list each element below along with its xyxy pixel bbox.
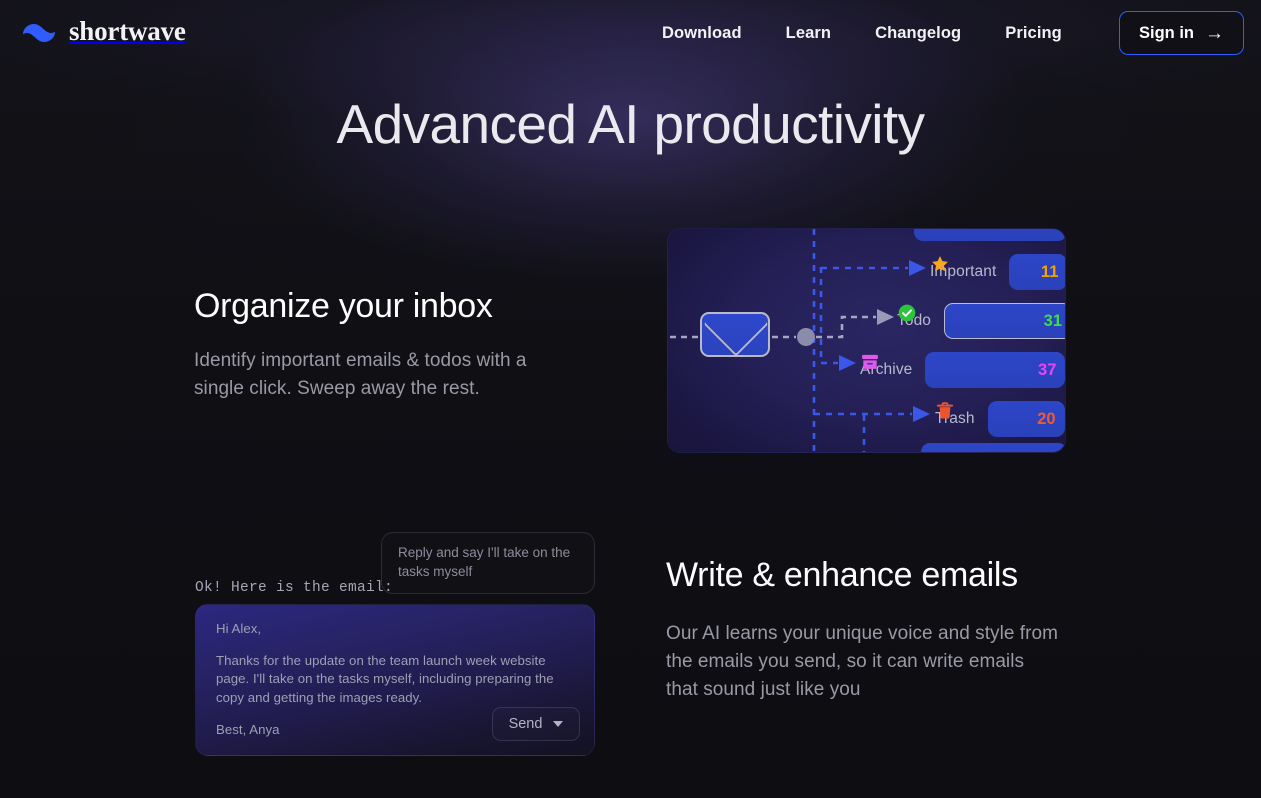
star-icon [930, 254, 950, 274]
section-organize-inbox: Organize your inbox Identify important e… [194, 285, 594, 403]
badge-count: 31 [1044, 312, 1062, 331]
archive-box-icon [860, 352, 880, 372]
envelope-node [700, 312, 770, 357]
section-title: Write & enhance emails [666, 554, 1066, 596]
badge-count: 20 [1037, 410, 1055, 429]
arrowhead-archive [839, 355, 856, 371]
send-label: Send [509, 716, 543, 732]
section-body: Our AI learns your unique voice and styl… [666, 620, 1058, 704]
arrowhead-todo [877, 309, 894, 325]
site-header: shortwave Download Learn Changelog Prici… [0, 0, 1261, 66]
inbox-organization-diagram: Important 11 Todo 31 Archive [667, 228, 1066, 453]
badge-todo[interactable]: 31 [944, 303, 1066, 339]
main-nav: Download Learn Changelog Pricing [640, 0, 1084, 66]
badge-important[interactable]: 11 [1009, 254, 1066, 290]
diagram-row-important[interactable]: Important 11 [930, 254, 1066, 290]
arrowhead-trash [913, 406, 930, 422]
arrow-right-icon: → [1205, 24, 1224, 43]
badge-archive[interactable]: 37 [925, 352, 1065, 388]
badge-count: 11 [1041, 263, 1058, 282]
sign-in-label: Sign in [1139, 24, 1194, 43]
nav-item-changelog[interactable]: Changelog [853, 24, 983, 43]
ai-prompt-bubble: Reply and say I'll take on the tasks mys… [381, 532, 595, 594]
sign-in-button[interactable]: Sign in → [1119, 11, 1244, 55]
send-button[interactable]: Send [492, 707, 580, 741]
badge-trash[interactable]: 20 [988, 401, 1065, 437]
nav-item-pricing[interactable]: Pricing [983, 24, 1084, 43]
envelope-icon [700, 312, 770, 357]
trash-icon [935, 401, 955, 421]
page-root: shortwave Download Learn Changelog Prici… [0, 0, 1261, 798]
email-greeting: Hi Alex, [216, 620, 566, 639]
brand-logo-link[interactable]: shortwave [20, 16, 186, 47]
section-title: Organize your inbox [194, 285, 594, 327]
diagram-row-trash[interactable]: Trash 20 [935, 401, 1065, 437]
diagram-row-todo[interactable]: Todo 31 [897, 303, 1066, 339]
nav-item-download[interactable]: Download [640, 24, 764, 43]
page-title: Advanced AI productivity [0, 92, 1261, 156]
nav-item-learn[interactable]: Learn [764, 24, 853, 43]
check-circle-icon [897, 303, 917, 323]
generated-email-card: Hi Alex, Thanks for the update on the te… [195, 604, 595, 756]
section-write-enhance-emails: Write & enhance emails Our AI learns you… [666, 554, 1066, 704]
section-body: Identify important emails & todos with a… [194, 347, 566, 403]
assistant-response-line: Ok! Here is the email: [195, 580, 393, 596]
email-paragraph: Thanks for the update on the team launch… [216, 652, 566, 708]
diagram-row-archive[interactable]: Archive 37 [860, 352, 1065, 388]
chevron-down-icon [553, 721, 563, 727]
shortwave-wave-logo-icon [20, 18, 58, 46]
badge-count: 37 [1038, 361, 1056, 380]
arrowhead-important [909, 260, 926, 276]
node-dot-icon [797, 328, 815, 346]
brand-name: shortwave [69, 16, 186, 47]
